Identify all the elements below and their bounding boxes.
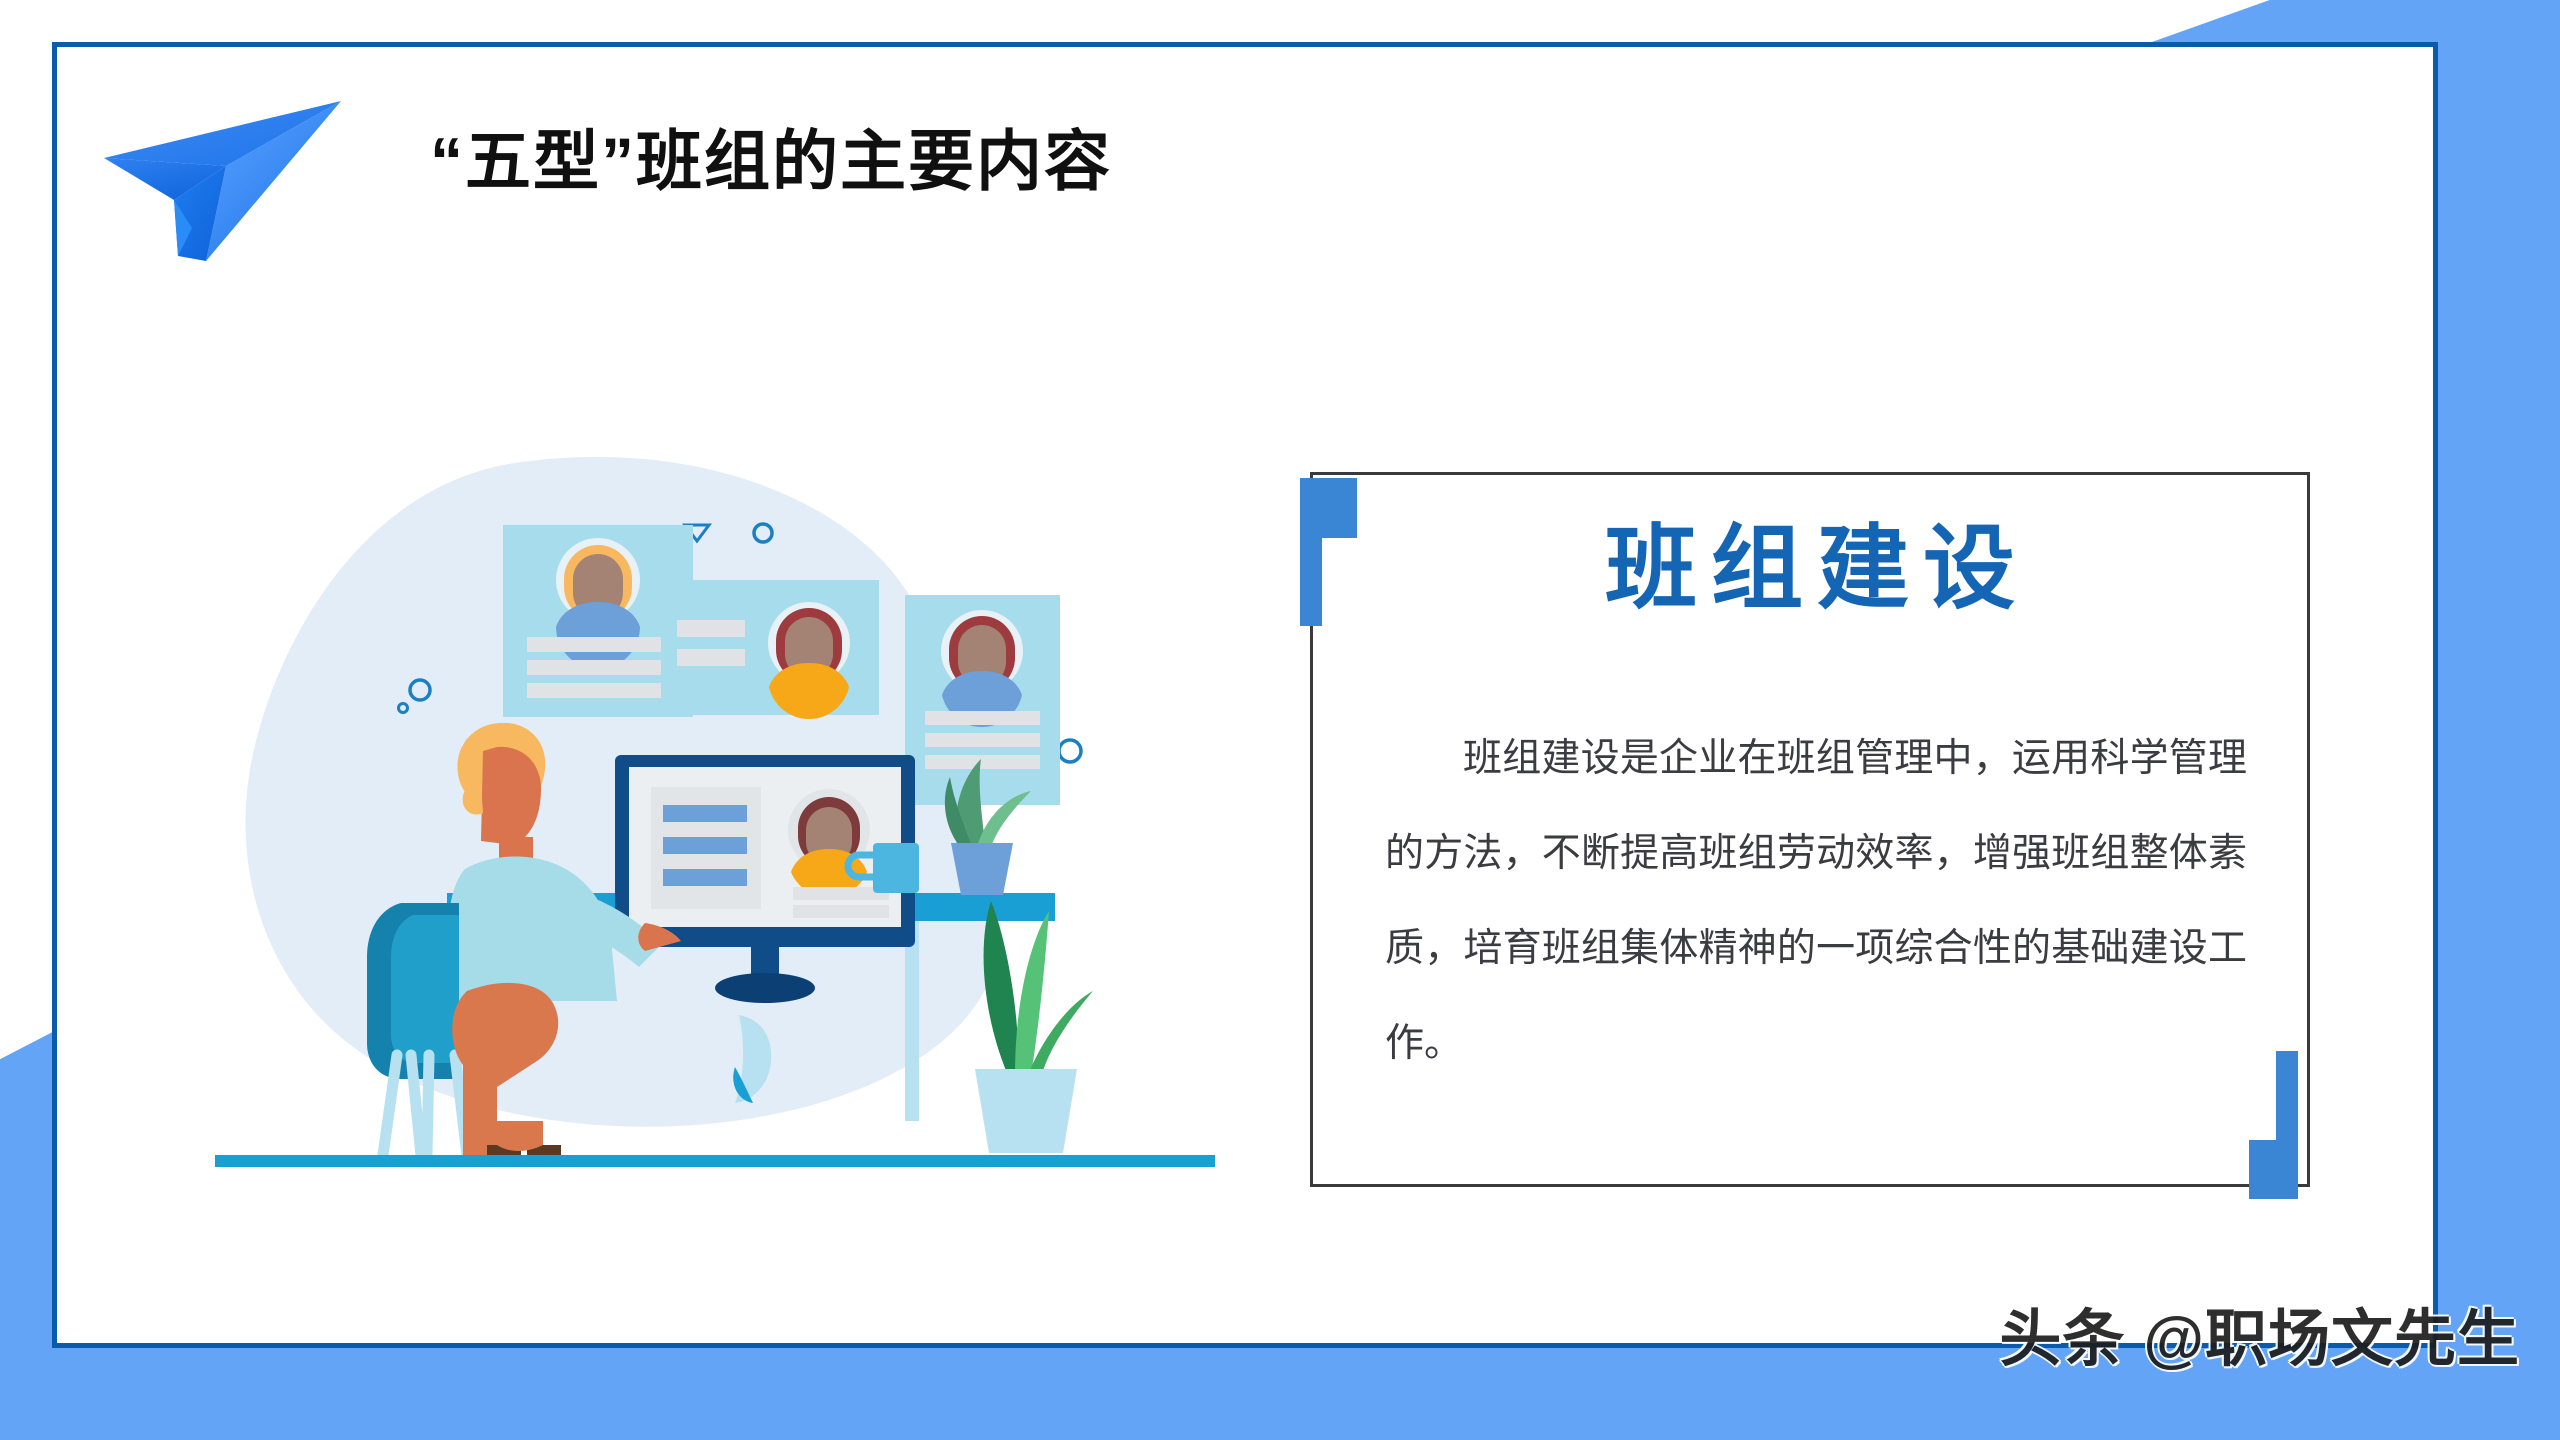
resume-card-3 — [905, 595, 1060, 805]
watermark: 头条 @职场文先生 — [1999, 1288, 2520, 1378]
corner-wedge-right-strip — [2438, 0, 2560, 1440]
frame-accent-bottom-right-horizontal — [2249, 1140, 2298, 1199]
floor-plant — [975, 901, 1093, 1153]
paper-plane-icon — [98, 88, 348, 273]
resume-card-2 — [661, 580, 879, 719]
floor-line — [215, 1155, 1215, 1167]
chair-legs — [383, 1055, 467, 1155]
frame-accent-top-left-horizontal — [1300, 478, 1357, 538]
page-title: “五型”班组的主要内容 — [430, 128, 1112, 194]
panel-body-text: 班组建设是企业在班组管理中，运用科学管理的方法，不断提高班组劳动效率，增强班组整… — [1385, 711, 2247, 1091]
content-frame: 班组建设 班组建设是企业在班组管理中，运用科学管理的方法，不断提高班组劳动效率，… — [1310, 472, 2310, 1187]
panel-heading: 班组建设 — [1313, 523, 2307, 615]
deco-circle-5 — [1059, 740, 1081, 762]
office-worker-resume-illustration — [215, 455, 1215, 1185]
presentation-slide: “五型”班组的主要内容 — [0, 0, 2560, 1440]
desk-leg-right — [905, 921, 919, 1121]
